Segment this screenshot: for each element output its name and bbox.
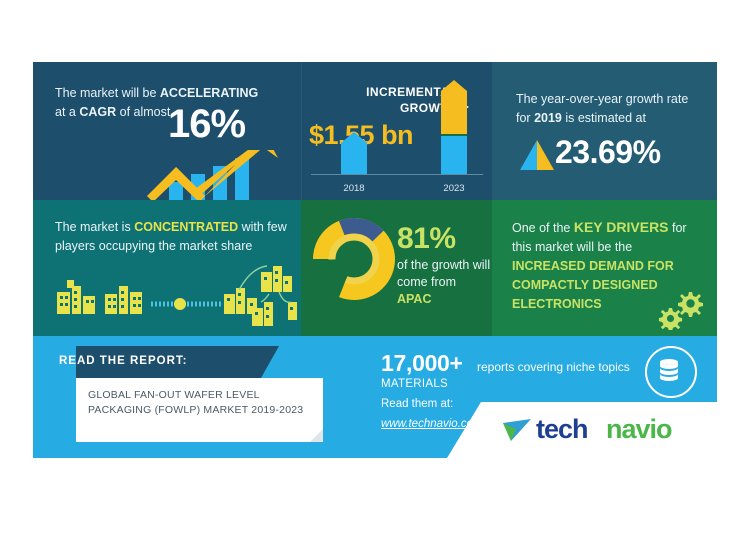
incremental-year-end: 2023 xyxy=(434,183,474,194)
apac-text-line2-b: APAC xyxy=(397,292,432,306)
database-stack-icon xyxy=(657,358,681,382)
incremental-bar-2023 xyxy=(441,80,467,174)
drivers-seg1: One of the xyxy=(512,221,574,235)
apac-value: 81% xyxy=(397,222,456,256)
paper-plane-icon xyxy=(503,419,531,443)
cagr-line2-a: at a xyxy=(55,105,79,119)
logo-text-navio: navio xyxy=(606,414,672,445)
gears-icon xyxy=(653,288,705,330)
panel-key-drivers: One of the KEY DRIVERS for this market w… xyxy=(492,200,717,336)
donut-chart-icon xyxy=(313,218,395,300)
tab-corner-shape xyxy=(261,346,279,378)
drivers-seg5: INCREASED DEMAND FOR COMPACTLY DESIGNED … xyxy=(512,259,674,311)
read-them-at-label: Read them at: xyxy=(381,398,453,410)
panel-cagr: The market will be ACCELERATING at a CAG… xyxy=(33,62,301,200)
reports-count: 17,000+ xyxy=(381,350,463,377)
city-buildings-network-icon xyxy=(39,262,297,326)
conc-line2: players occupying the market share xyxy=(55,239,252,253)
incremental-bar-2018 xyxy=(341,132,367,174)
drivers-seg4: market will be the xyxy=(535,240,632,254)
growth-bar-arrow-icon xyxy=(145,150,295,200)
infographic-canvas: The market will be ACCELERATING at a CAG… xyxy=(0,0,750,536)
cagr-value: 16% xyxy=(168,102,245,147)
yoy-line2-b: 2019 xyxy=(534,111,562,125)
yoy-description: The year-over-year growth rate for 2019 … xyxy=(516,90,701,128)
category-label: MATERIALS xyxy=(381,378,448,390)
apac-text-line1: of the growth will xyxy=(397,258,490,272)
panel-incremental-growth: INCREMENTAL GROWTH $1.55 bn 2018 2023 xyxy=(301,62,492,200)
panel-yoy-growth: The year-over-year growth rate for 2019 … xyxy=(492,62,717,200)
incremental-growth-label: INCREMENTAL GROWTH xyxy=(301,84,457,116)
cagr-line2-b: CAGR xyxy=(79,105,116,119)
logo-text-tech: tech xyxy=(536,414,588,445)
conc-line1-c: with few xyxy=(238,220,287,234)
yoy-line2-c: is estimated at xyxy=(562,111,646,125)
cagr-line1-b: ACCELERATING xyxy=(160,86,258,100)
panel-apac-share: 81% of the growth will come from APAC xyxy=(301,200,492,336)
concentration-description: The market is CONCENTRATED with few play… xyxy=(55,218,287,256)
report-title: GLOBAL FAN-OUT WAFER LEVEL PACKAGING (FO… xyxy=(88,388,316,418)
conc-line1-a: The market is xyxy=(55,220,134,234)
yoy-line1: The year-over-year growth rate xyxy=(516,92,688,106)
conc-line1-b: CONCENTRATED xyxy=(134,220,238,234)
drivers-seg2: KEY DRIVERS xyxy=(574,219,669,235)
panel-market-concentration: The market is CONCENTRATED with few play… xyxy=(33,200,301,336)
apac-text-line2-a: come from xyxy=(397,275,456,289)
reports-count-subtitle: reports covering niche topics xyxy=(477,360,630,374)
growth-triangle-icon xyxy=(520,140,554,170)
cagr-line1-a: The market will be xyxy=(55,86,160,100)
apac-description: of the growth will come from APAC xyxy=(397,257,492,308)
read-report-label: READ THE REPORT: xyxy=(59,355,187,367)
panel-footer: READ THE REPORT: GLOBAL FAN-OUT WAFER LE… xyxy=(33,336,717,458)
cagr-line2-c: of almost xyxy=(116,105,170,119)
incremental-year-start: 2018 xyxy=(334,183,374,194)
yoy-line2-a: for xyxy=(516,111,534,125)
incremental-axis-line xyxy=(311,174,483,175)
yoy-value: 23.69% xyxy=(555,134,661,171)
page-fold-icon xyxy=(310,429,323,442)
